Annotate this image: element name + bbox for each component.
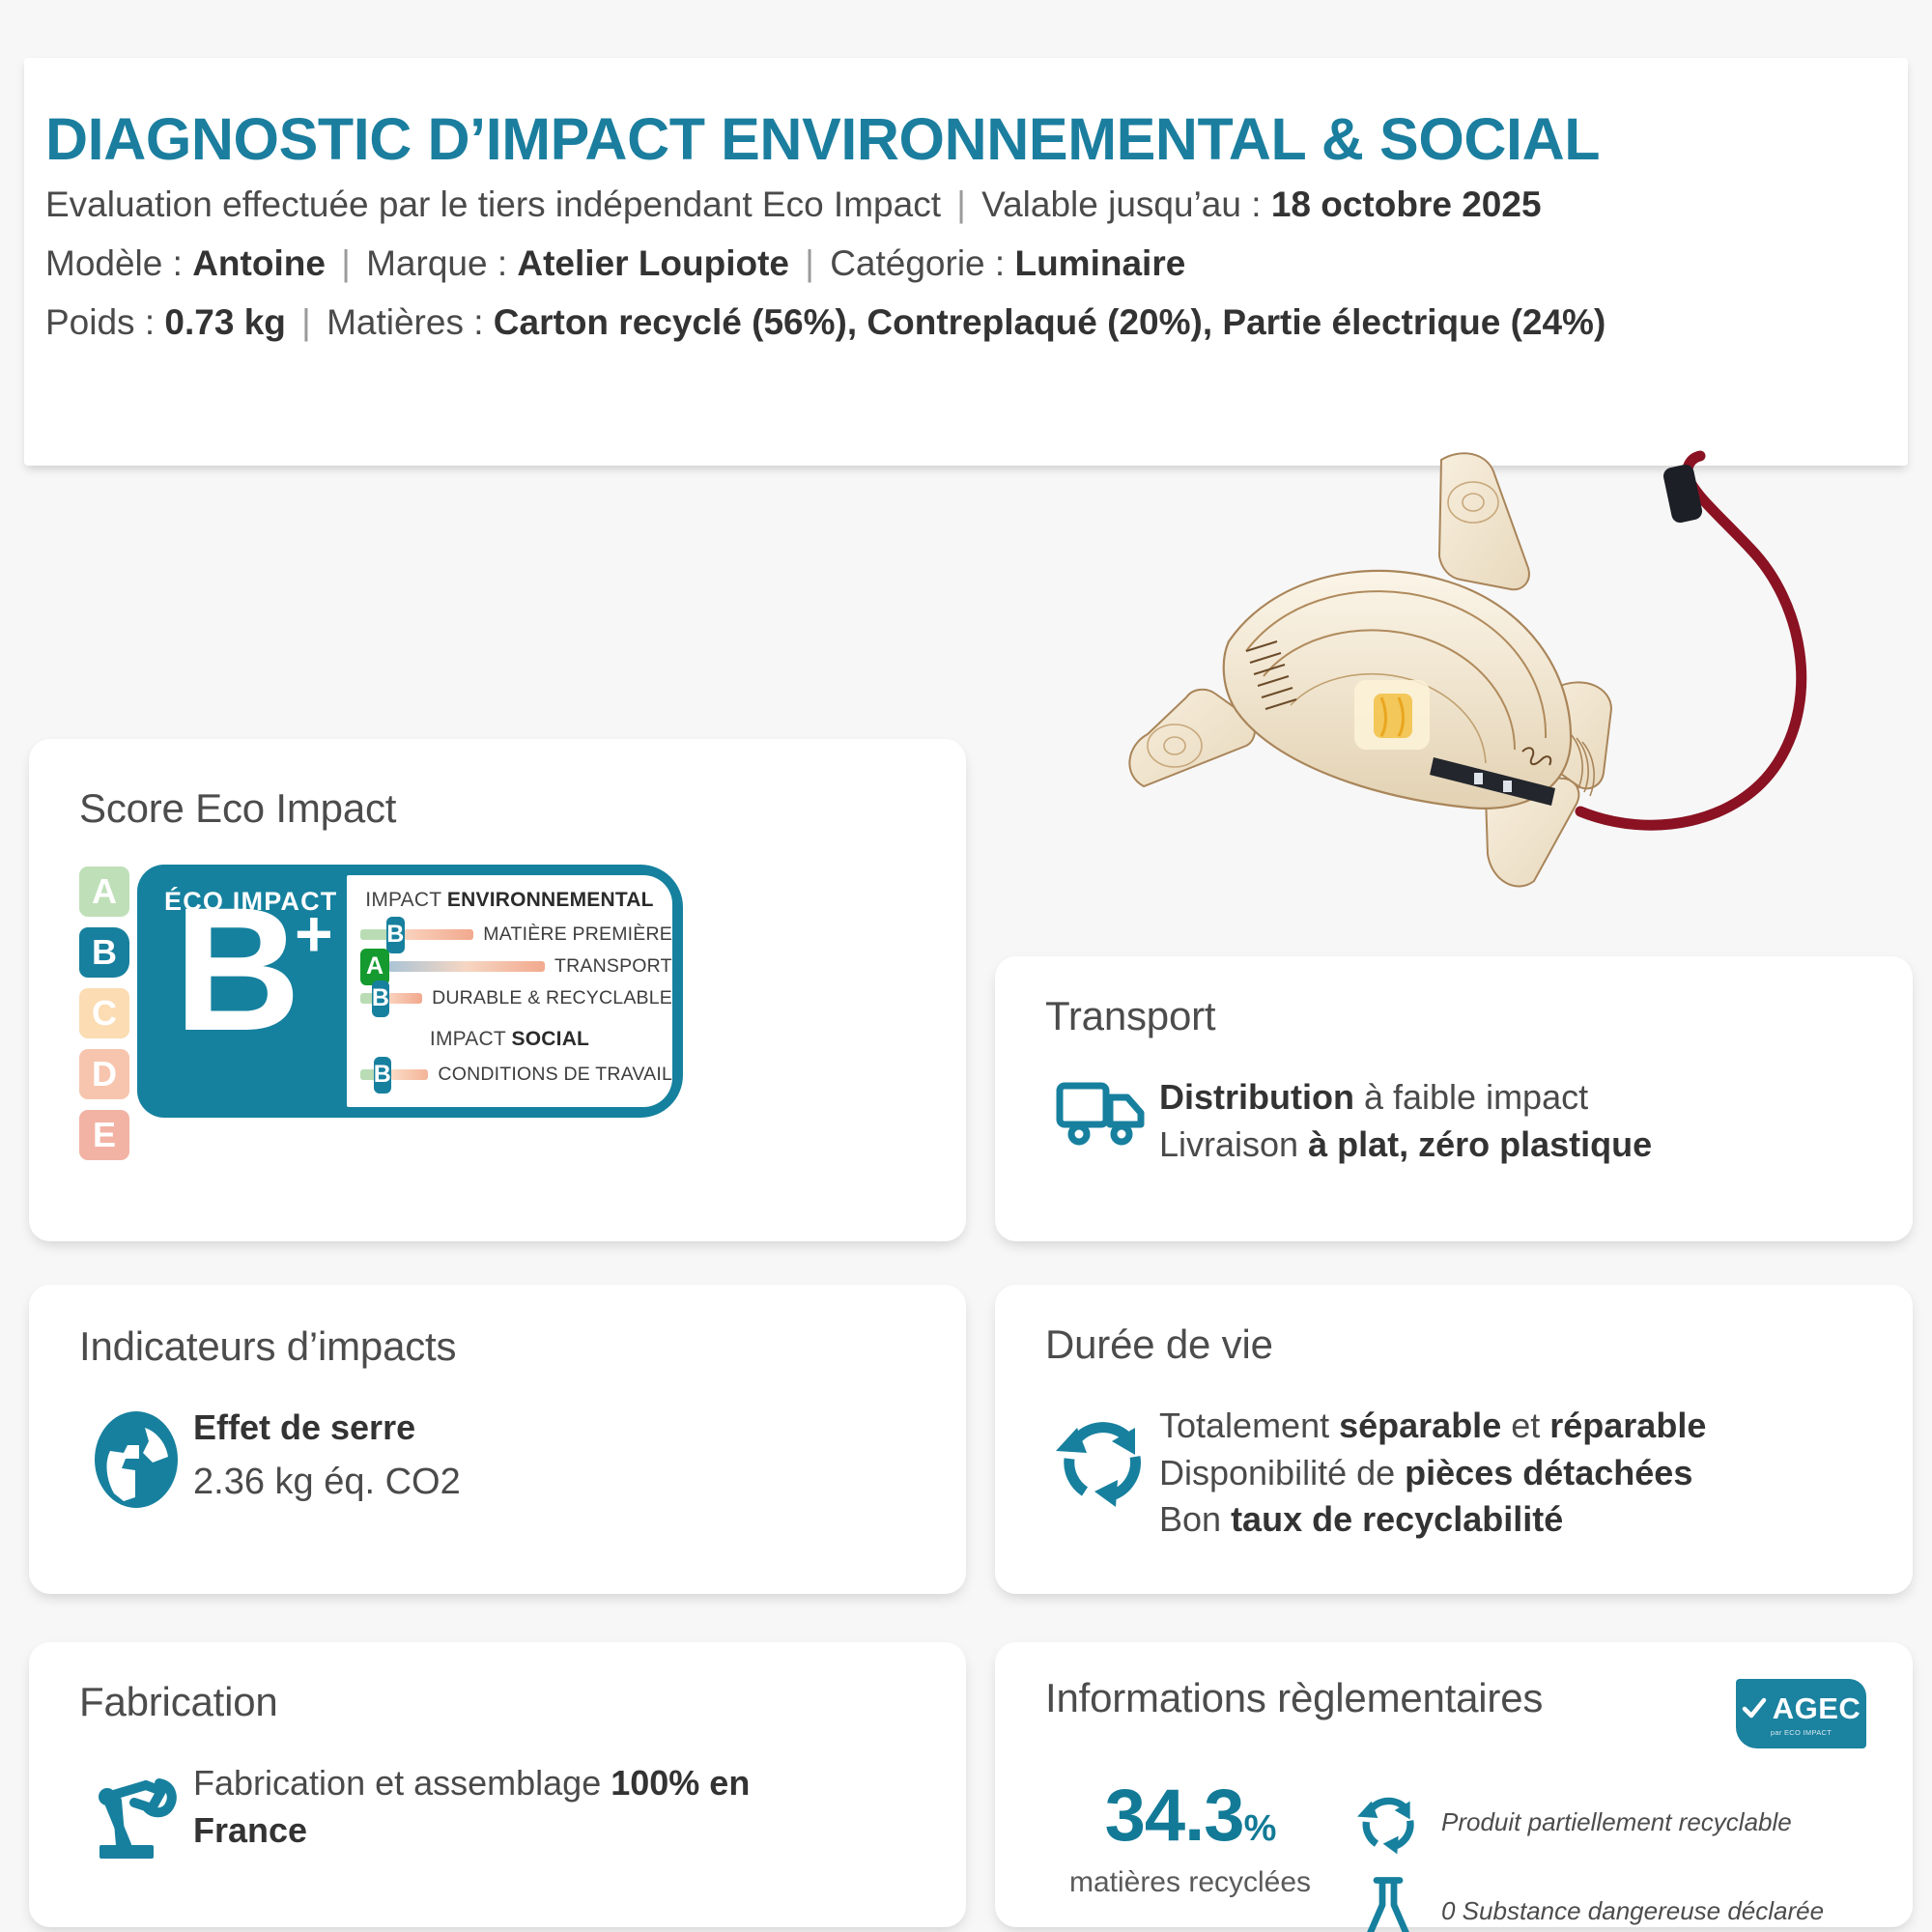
grade-chip-e: E xyxy=(79,1110,129,1160)
transport-line-2-rest: Livraison xyxy=(1159,1124,1308,1164)
grade-chip-b: B xyxy=(79,927,129,978)
criterion-bar-left xyxy=(360,929,388,940)
overall-grade-modifier: + xyxy=(295,901,333,967)
indicators-text: Effet de serre 2.36 kg éq. CO2 xyxy=(193,1403,461,1507)
criterion-label: MATIÈRE PREMIÈRE xyxy=(483,923,672,946)
recycled-percent-label: matières recyclées xyxy=(1045,1866,1335,1899)
transport-card: Transport Distribution à faible impact L… xyxy=(995,956,1913,1241)
criterion-bar-right xyxy=(390,1069,429,1080)
section-social-prefix: IMPACT xyxy=(430,1028,512,1050)
manufacturing-card: Fabrication Fabrication et assemblage 10… xyxy=(29,1642,966,1927)
regulatory-item: 0 Substance dangereuse déclarée xyxy=(1335,1866,1824,1932)
separator: | xyxy=(951,185,972,224)
eco-impact-report-page: DIAGNOSTIC D’IMPACT ENVIRONNEMENTAL & SO… xyxy=(0,0,1932,1932)
eco-impact-label: A B C D E ÉCO IMPACT B + IMPACT ENVIRONN… xyxy=(79,865,966,1171)
agec-badge-subtext: par ECO IMPACT xyxy=(1771,1728,1832,1737)
brand-label: Marque : xyxy=(366,243,507,283)
transport-text: Distribution à faible impact Livraison à… xyxy=(1159,1072,1652,1168)
transport-line-1: Distribution à faible impact xyxy=(1159,1074,1652,1122)
evaluator-text: Evaluation effectuée par le tiers indépe… xyxy=(45,185,941,224)
indicators-content: Effet de serre 2.36 kg éq. CO2 xyxy=(79,1403,966,1511)
regulatory-body: 34.3% matières recyclées xyxy=(1045,1774,1913,1932)
eco-label-criteria-panel: IMPACT ENVIRONNEMENTAL B MATIÈRE PREMIÈR… xyxy=(347,875,672,1107)
grade-scale: A B C D E xyxy=(79,867,129,1171)
criterion-label: CONDITIONS DE TRAVAIL xyxy=(438,1064,672,1086)
recycled-percent-value: 34.3% xyxy=(1045,1779,1335,1853)
criterion-grade-chip: B xyxy=(386,917,405,953)
robot-arm-icon xyxy=(79,1758,193,1864)
regulatory-item-text: 0 Substance dangereuse déclarée xyxy=(1441,1896,1824,1926)
recycle-icon xyxy=(1045,1401,1159,1511)
check-icon xyxy=(1742,1697,1767,1720)
lifetime-line-1-b2: réparable xyxy=(1549,1406,1706,1445)
transport-content: Distribution à faible impact Livraison à… xyxy=(1045,1072,1913,1168)
card-title-score: Score Eco Impact xyxy=(79,785,966,832)
manufacturing-text: Fabrication et assemblage 100% en France xyxy=(193,1758,869,1854)
transport-line-1-rest: à faible impact xyxy=(1354,1077,1588,1117)
recycled-percent-unit: % xyxy=(1244,1808,1276,1849)
category-value: Luminaire xyxy=(1014,243,1185,283)
lifetime-line-2-pre: Disponibilité de xyxy=(1159,1453,1405,1492)
lifetime-text: Totalement séparable et réparable Dispon… xyxy=(1159,1401,1706,1544)
page-title: DIAGNOSTIC D’IMPACT ENVIRONNEMENTAL & SO… xyxy=(45,108,1908,170)
lifetime-line-3: Bon taux de recyclabilité xyxy=(1159,1496,1706,1544)
lifetime-line-1-b1: séparable xyxy=(1339,1406,1501,1445)
model-value: Antoine xyxy=(192,243,326,283)
product-identity-line: Modèle : Antoine | Marque : Atelier Loup… xyxy=(45,241,1908,288)
separator: | xyxy=(296,302,317,342)
lifetime-line-3-pre: Bon xyxy=(1159,1499,1231,1539)
eco-label-panel: ÉCO IMPACT B + IMPACT ENVIRONNEMENTAL B … xyxy=(137,865,683,1118)
transport-line-1-bold: Distribution xyxy=(1159,1077,1354,1117)
recycled-materials-stat: 34.3% matières recyclées xyxy=(1045,1774,1335,1899)
manufacturing-content: Fabrication et assemblage 100% en France xyxy=(79,1758,966,1864)
card-title-lifetime: Durée de vie xyxy=(1045,1321,1913,1368)
separator: | xyxy=(799,243,820,283)
transport-line-2-bold: à plat, zéro plastique xyxy=(1308,1124,1652,1164)
regulatory-item: Produit partiellement recyclable xyxy=(1335,1777,1824,1866)
criterion-grade-chip: B xyxy=(372,980,389,1017)
recycled-percent-number: 34.3 xyxy=(1105,1775,1244,1857)
validity-label: Valable jusqu’au : xyxy=(981,185,1261,224)
materials-value: Carton recyclé (56%), Contreplaqué (20%)… xyxy=(494,302,1605,342)
lifetime-line-3-b1: taux de recyclabilité xyxy=(1231,1499,1563,1539)
section-heading-social: IMPACT SOCIAL xyxy=(347,1028,672,1051)
flask-icon xyxy=(1335,1876,1441,1932)
criterion-row: B CONDITIONS DE TRAVAIL xyxy=(347,1059,672,1091)
criterion-bar-right xyxy=(388,993,422,1004)
eco-label-left: ÉCO IMPACT B + xyxy=(137,865,347,1118)
overall-grade-letter: B xyxy=(174,897,297,1041)
regulatory-header: Informations règlementaires AGEC par ECO… xyxy=(1045,1675,1913,1748)
agec-badge-label: AGEC xyxy=(1773,1691,1861,1726)
section-env-bold: ENVIRONNEMENTAL xyxy=(447,889,654,911)
indicator-name: Effet de serre xyxy=(193,1405,461,1452)
card-title-regulatory: Informations règlementaires xyxy=(1045,1675,1543,1721)
agec-badge-main: AGEC xyxy=(1742,1691,1861,1726)
criterion-grade-chip: A xyxy=(360,949,389,985)
criterion-row: A TRANSPORT xyxy=(347,951,672,982)
section-env-prefix: IMPACT xyxy=(365,889,447,911)
grade-chip-a: A xyxy=(79,867,129,917)
recycle-icon xyxy=(1335,1787,1441,1857)
manufacturing-text-pre: Fabrication et assemblage xyxy=(193,1763,611,1803)
lifetime-line-2: Disponibilité de pièces détachées xyxy=(1159,1450,1706,1497)
lifetime-line-1: Totalement séparable et réparable xyxy=(1159,1403,1706,1450)
brand-value: Atelier Loupiote xyxy=(517,243,789,283)
card-title-transport: Transport xyxy=(1045,993,1913,1039)
grade-chip-c: C xyxy=(79,988,129,1038)
lifetime-line-2-b1: pièces détachées xyxy=(1405,1453,1692,1492)
materials-label: Matières : xyxy=(327,302,483,342)
criterion-grade-chip: B xyxy=(374,1057,391,1094)
card-title-indicators: Indicateurs d’impacts xyxy=(79,1323,966,1370)
evaluation-line: Evaluation effectuée par le tiers indépe… xyxy=(45,182,1908,229)
weight-value: 0.73 kg xyxy=(164,302,285,342)
transport-line-2: Livraison à plat, zéro plastique xyxy=(1159,1122,1652,1169)
product-photo xyxy=(1101,444,1884,898)
validity-value: 18 octobre 2025 xyxy=(1271,185,1542,224)
lifetime-line-1-pre: Totalement xyxy=(1159,1406,1339,1445)
header-card: DIAGNOSTIC D’IMPACT ENVIRONNEMENTAL & SO… xyxy=(24,58,1908,466)
criterion-row: B DURABLE & RECYCLABLE xyxy=(347,982,672,1014)
regulatory-items: Produit partiellement recyclable 0 Subst… xyxy=(1335,1774,1824,1932)
criterion-row: B MATIÈRE PREMIÈRE xyxy=(347,919,672,951)
criterion-bar-right xyxy=(404,929,474,940)
model-label: Modèle : xyxy=(45,243,183,283)
criterion-label: TRANSPORT xyxy=(554,955,672,978)
weight-label: Poids : xyxy=(45,302,155,342)
regulatory-card: Informations règlementaires AGEC par ECO… xyxy=(995,1642,1913,1927)
lifetime-content: Totalement séparable et réparable Dispon… xyxy=(1045,1401,1913,1544)
criterion-label: DURABLE & RECYCLABLE xyxy=(432,987,672,1009)
weight-materials-line: Poids : 0.73 kg | Matières : Carton recy… xyxy=(45,299,1908,347)
regulatory-item-text: Produit partiellement recyclable xyxy=(1441,1807,1792,1837)
lifetime-line-1-mid: et xyxy=(1501,1406,1549,1445)
indicators-card: Indicateurs d’impacts Effet de serre 2.3… xyxy=(29,1285,966,1594)
section-social-bold: SOCIAL xyxy=(512,1028,590,1050)
truck-icon xyxy=(1045,1072,1159,1148)
category-label: Catégorie : xyxy=(830,243,1005,283)
criterion-bar-right xyxy=(388,961,545,972)
score-eco-impact-card: Score Eco Impact A B C D E ÉCO IMPACT B … xyxy=(29,739,966,1241)
grade-chip-d: D xyxy=(79,1049,129,1099)
section-heading-environmental: IMPACT ENVIRONNEMENTAL xyxy=(347,889,672,912)
product-illustration xyxy=(1101,444,1884,898)
agec-badge: AGEC par ECO IMPACT xyxy=(1736,1679,1866,1748)
globe-icon xyxy=(79,1403,193,1511)
lifetime-card: Durée de vie Totalement séparable et rép… xyxy=(995,1285,1913,1594)
indicator-value: 2.36 kg éq. CO2 xyxy=(193,1458,461,1507)
card-title-manufacturing: Fabrication xyxy=(79,1679,966,1725)
separator: | xyxy=(335,243,356,283)
